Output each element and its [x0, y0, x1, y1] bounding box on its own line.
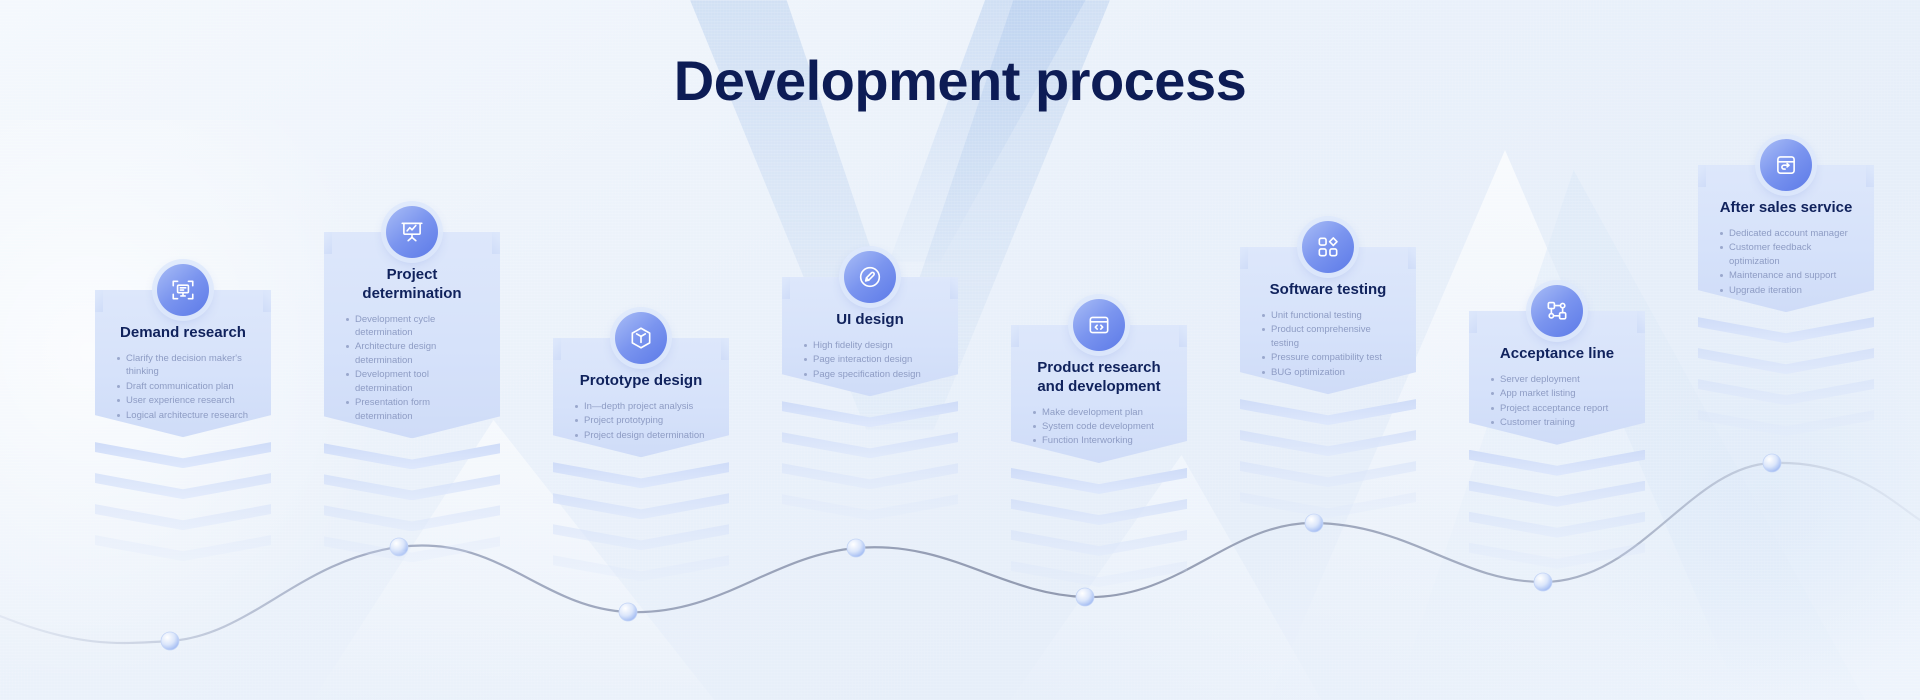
- ribbon-fold-left: [1443, 293, 1477, 333]
- process-step-4[interactable]: UI design High fidelity design Page inte…: [782, 277, 958, 525]
- ribbon-fold-right: [492, 214, 526, 254]
- shapes-grid-icon: [1302, 221, 1354, 273]
- list-item: System code development: [1031, 420, 1171, 433]
- step-title: Product research and development: [1027, 359, 1171, 397]
- chevron-down-icon: [1469, 481, 1645, 507]
- list-item: Architecture design determination: [344, 340, 484, 367]
- code-window-icon: [1073, 299, 1125, 351]
- step-chevrons: [1240, 399, 1416, 518]
- list-item: Pressure compatibility test: [1260, 351, 1400, 364]
- step-chevrons: [1011, 468, 1187, 587]
- step-bullets: Clarify the decision maker's thinking Dr…: [111, 352, 255, 422]
- list-item: Project design determination: [573, 429, 713, 442]
- list-item: Maintenance and support: [1718, 269, 1858, 282]
- step-chevrons: [324, 443, 500, 562]
- chevron-down-icon: [1240, 492, 1416, 518]
- chevron-down-icon: [782, 401, 958, 427]
- chevron-down-icon: [324, 536, 500, 562]
- step-title: After sales service: [1714, 199, 1858, 218]
- chevron-down-icon: [1469, 450, 1645, 476]
- list-item: Upgrade iteration: [1718, 284, 1858, 297]
- list-item: High fidelity design: [802, 339, 942, 352]
- list-item: Unit functional testing: [1260, 309, 1400, 322]
- ribbon-fold-left: [527, 320, 561, 360]
- chevron-down-icon: [324, 505, 500, 531]
- chevron-down-icon: [553, 493, 729, 519]
- return-box-icon: [1760, 139, 1812, 191]
- list-item: User experience research: [115, 394, 255, 407]
- list-item: App market listing: [1489, 387, 1629, 400]
- chevron-down-icon: [1240, 461, 1416, 487]
- list-item: Project acceptance report: [1489, 402, 1629, 415]
- step-bullets: Make development plan System code develo…: [1027, 406, 1171, 448]
- chevron-down-icon: [553, 524, 729, 550]
- scan-document-icon: [157, 264, 209, 316]
- chevron-down-icon: [1240, 399, 1416, 425]
- chevron-down-icon: [1240, 430, 1416, 456]
- ribbon-fold-left: [756, 259, 790, 299]
- step-bullets: High fidelity design Page interaction de…: [798, 339, 942, 381]
- process-step-8[interactable]: After sales service Dedicated account ma…: [1698, 165, 1874, 441]
- step-title: Demand research: [111, 324, 255, 343]
- ribbon-fold-left: [985, 307, 1019, 347]
- step-chevrons: [782, 401, 958, 520]
- list-item: Clarify the decision maker's thinking: [115, 352, 255, 379]
- paint-brush-icon: [844, 251, 896, 303]
- ribbon-fold-left: [69, 272, 103, 312]
- list-item: Customer feedback optimization: [1718, 241, 1858, 268]
- step-title: UI design: [798, 311, 942, 330]
- chevron-down-icon: [1011, 468, 1187, 494]
- step-chevrons: [95, 442, 271, 561]
- ribbon-fold-left: [298, 214, 332, 254]
- step-bullets: Server deployment App market listing Pro…: [1485, 373, 1629, 430]
- step-bullets: Unit functional testing Product comprehe…: [1256, 309, 1400, 379]
- chevron-down-icon: [1698, 317, 1874, 343]
- cube-icon: [615, 312, 667, 364]
- process-step-6[interactable]: Software testing Unit functional testing…: [1240, 247, 1416, 523]
- list-item: Logical architecture research: [115, 409, 255, 422]
- chevron-down-icon: [324, 474, 500, 500]
- list-item: Presentation form determination: [344, 396, 484, 423]
- step-bullets: Dedicated account manager Customer feedb…: [1714, 227, 1858, 297]
- list-item: Make development plan: [1031, 406, 1171, 419]
- step-chevrons: [1469, 450, 1645, 569]
- page-title: Development process: [0, 48, 1920, 113]
- chevron-down-icon: [782, 463, 958, 489]
- chevron-down-icon: [95, 504, 271, 530]
- list-item: Function Interworking: [1031, 434, 1171, 447]
- chevron-down-icon: [1011, 499, 1187, 525]
- presentation-chart-icon: [386, 206, 438, 258]
- list-item: Page specification design: [802, 368, 942, 381]
- chevron-down-icon: [1698, 348, 1874, 374]
- chevron-down-icon: [324, 443, 500, 469]
- ribbon-fold-left: [1672, 147, 1706, 187]
- ribbon-fold-left: [1214, 229, 1248, 269]
- ribbon-fold-right: [1866, 147, 1900, 187]
- chevron-down-icon: [1011, 530, 1187, 556]
- list-item: BUG optimization: [1260, 366, 1400, 379]
- ribbon-fold-right: [1637, 293, 1671, 333]
- list-item: In—depth project analysis: [573, 400, 713, 413]
- list-item: Customer training: [1489, 416, 1629, 429]
- step-card: Project determination Development cycle …: [324, 232, 500, 438]
- list-item: Server deployment: [1489, 373, 1629, 386]
- step-chevrons: [553, 462, 729, 581]
- ribbon-fold-right: [950, 259, 984, 299]
- chevron-down-icon: [553, 462, 729, 488]
- step-title: Prototype design: [569, 372, 713, 391]
- chevron-down-icon: [95, 473, 271, 499]
- process-step-7[interactable]: Acceptance line Server deployment App ma…: [1469, 311, 1645, 574]
- list-item: Dedicated account manager: [1718, 227, 1858, 240]
- chevron-down-icon: [1698, 410, 1874, 436]
- list-item: Draft communication plan: [115, 380, 255, 393]
- process-step-2[interactable]: Project determination Development cycle …: [324, 232, 500, 567]
- ribbon-fold-right: [1408, 229, 1442, 269]
- step-title: Software testing: [1256, 281, 1400, 300]
- ribbon-fold-right: [1179, 307, 1213, 347]
- process-step-5[interactable]: Product research and development Make de…: [1011, 325, 1187, 592]
- step-title: Project determination: [340, 266, 484, 304]
- step-bullets: In—depth project analysis Project protot…: [569, 400, 713, 442]
- list-item: Page interaction design: [802, 353, 942, 366]
- ribbon-fold-right: [721, 320, 755, 360]
- list-item: Project prototyping: [573, 414, 713, 427]
- step-chevrons: [1698, 317, 1874, 436]
- chevron-down-icon: [1469, 512, 1645, 538]
- chevron-down-icon: [1469, 543, 1645, 569]
- list-item: Development cycle determination: [344, 313, 484, 340]
- chevron-down-icon: [782, 494, 958, 520]
- list-item: Product comprehensive testing: [1260, 323, 1400, 350]
- chevron-down-icon: [553, 555, 729, 581]
- list-item: Development tool determination: [344, 368, 484, 395]
- step-bullets: Development cycle determination Architec…: [340, 313, 484, 424]
- process-step-1[interactable]: Demand research Clarify the decision mak…: [95, 290, 271, 566]
- process-step-3[interactable]: Prototype design In—depth project analys…: [553, 338, 729, 586]
- chevron-down-icon: [1698, 379, 1874, 405]
- node-network-icon: [1531, 285, 1583, 337]
- ribbon-fold-right: [263, 272, 297, 312]
- chevron-down-icon: [95, 442, 271, 468]
- chevron-down-icon: [782, 432, 958, 458]
- chevron-down-icon: [1011, 561, 1187, 587]
- chevron-down-icon: [95, 535, 271, 561]
- step-title: Acceptance line: [1485, 345, 1629, 364]
